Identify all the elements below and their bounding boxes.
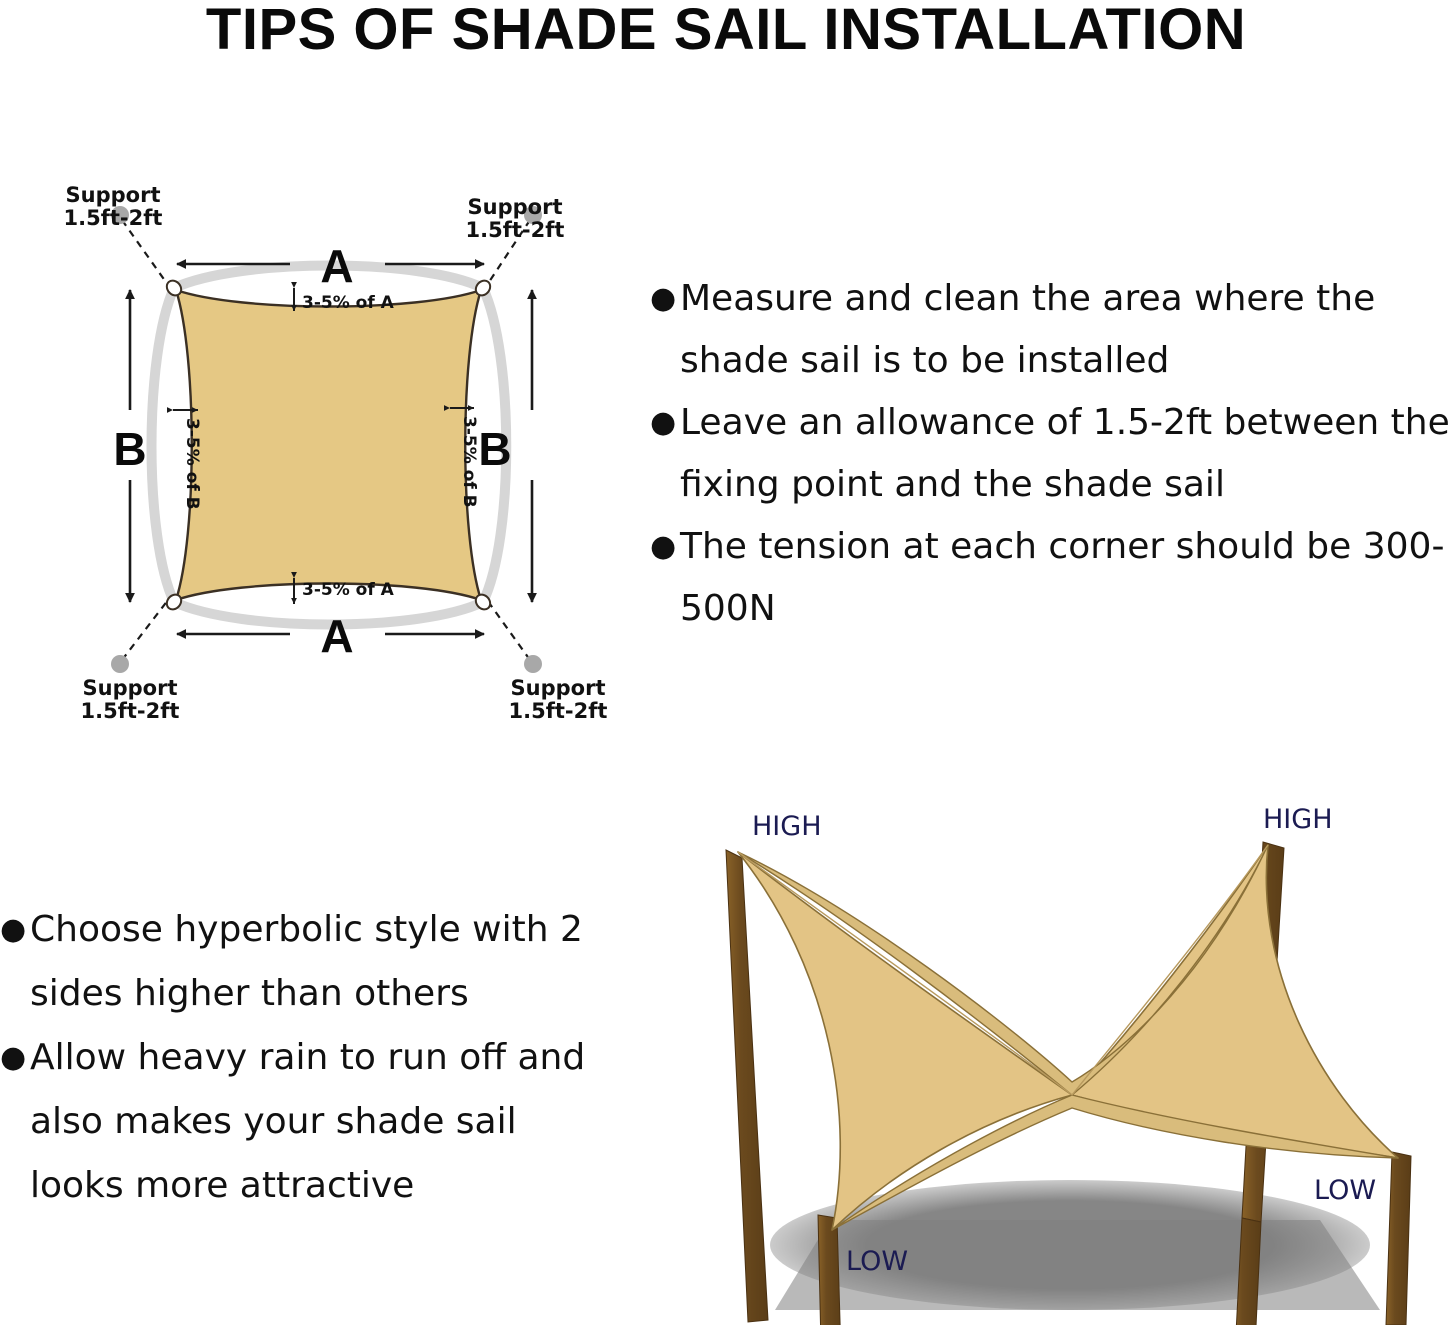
post-left-high bbox=[726, 850, 768, 1322]
post-label-right-high: HIGH bbox=[1263, 804, 1333, 835]
installation-tips-list-right: ● Measure and clean the area where the s… bbox=[650, 268, 1450, 640]
support-label-bottom-right-line2: 1.5ft-2ft bbox=[509, 699, 608, 723]
curve-allowance-label-right: 3-5% of B bbox=[459, 416, 479, 508]
support-label-bottom-left-line2: 1.5ft-2ft bbox=[81, 699, 180, 723]
support-label-bottom-left-line1: Support bbox=[83, 676, 178, 700]
list-item-text: Leave an allowance of 1.5-2ft between th… bbox=[680, 392, 1450, 516]
list-item-text: Allow heavy rain to run off and also mak… bbox=[30, 1026, 620, 1218]
support-label-bottom-right-line1: Support bbox=[511, 676, 606, 700]
list-item: ● Allow heavy rain to run off and also m… bbox=[0, 1026, 620, 1218]
bullet-dot-icon: ● bbox=[0, 898, 30, 962]
dimension-label-top-a: A bbox=[320, 240, 353, 292]
page-title: TIPS OF SHADE SAIL INSTALLATION bbox=[0, 0, 1452, 63]
bullet-dot-icon: ● bbox=[0, 1026, 30, 1090]
support-label-top-left-line1: Support bbox=[66, 183, 161, 207]
list-item: ● Leave an allowance of 1.5-2ft between … bbox=[650, 392, 1450, 516]
square-shade-sail-measurement-diagram: A 3-5% of A A 3-5% of A B 3-5% of B bbox=[40, 160, 660, 740]
list-item: ● Choose hyperbolic style with 2 sides h… bbox=[0, 898, 620, 1026]
bullet-dot-icon: ● bbox=[650, 516, 680, 578]
curve-allowance-label-top: 3-5% of A bbox=[302, 293, 395, 313]
support-label-top-left-line2: 1.5ft-2ft bbox=[64, 206, 163, 230]
list-item-text: Choose hyperbolic style with 2 sides hig… bbox=[30, 898, 620, 1026]
bullet-dot-icon: ● bbox=[650, 268, 680, 330]
support-label-top-right-line1: Support bbox=[468, 195, 563, 219]
support-dot-bottom-right bbox=[524, 655, 542, 673]
dimension-label-bottom-a: A bbox=[320, 610, 353, 662]
sail-body bbox=[176, 290, 481, 600]
post-label-left-low: LOW bbox=[846, 1246, 908, 1277]
list-item: ● Measure and clean the area where the s… bbox=[650, 268, 1450, 392]
post-label-left-high: HIGH bbox=[752, 811, 822, 842]
dimension-label-right-b: B bbox=[478, 423, 511, 475]
installation-tips-list-left: ● Choose hyperbolic style with 2 sides h… bbox=[0, 898, 620, 1218]
list-item: ● The tension at each corner should be 3… bbox=[650, 516, 1450, 640]
hyperbolic-shade-sail-illustration: HIGH HIGH LOW LOW bbox=[680, 790, 1452, 1325]
support-label-top-right-line2: 1.5ft-2ft bbox=[466, 218, 565, 242]
curve-allowance-label-bottom: 3-5% of A bbox=[302, 580, 395, 600]
dimension-label-left-b: B bbox=[113, 423, 146, 475]
list-item-text: The tension at each corner should be 300… bbox=[680, 516, 1450, 640]
support-dot-bottom-left bbox=[111, 655, 129, 673]
post-label-right-low: LOW bbox=[1314, 1175, 1376, 1206]
bullet-dot-icon: ● bbox=[650, 392, 680, 454]
curve-allowance-label-left: 3-5% of B bbox=[182, 418, 202, 510]
post-right-low bbox=[1386, 1152, 1411, 1325]
list-item-text: Measure and clean the area where the sha… bbox=[680, 268, 1450, 392]
